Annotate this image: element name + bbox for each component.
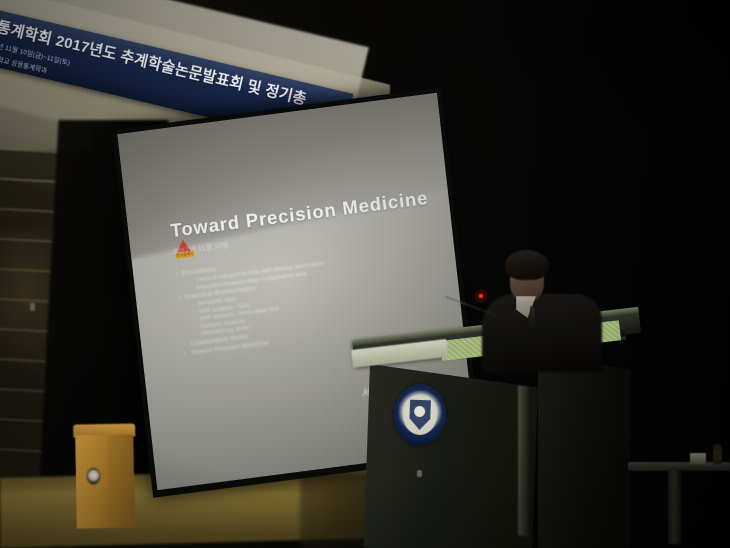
podium-front-panel <box>364 364 538 548</box>
podium-fixture-icon <box>417 470 422 477</box>
table-leg <box>668 470 681 544</box>
speaker-hair <box>505 250 549 280</box>
university-seal-icon <box>87 468 100 484</box>
photo-scene: 한국통계학회 2017년도 추계학술논문발표회 및 정기총 일시 | 2017년… <box>0 0 730 548</box>
microphone-led-icon <box>479 294 483 298</box>
side-table <box>628 462 730 548</box>
water-bottle <box>713 444 722 464</box>
wooden-lectern <box>73 423 137 528</box>
floor-reflection <box>0 490 330 548</box>
podium-edge-post <box>518 385 529 537</box>
podium-side-panel <box>538 354 630 548</box>
speaker-person <box>488 248 608 368</box>
wall-fixture-icon <box>30 303 35 311</box>
speaker-torso <box>482 294 602 372</box>
name-card <box>690 453 706 464</box>
